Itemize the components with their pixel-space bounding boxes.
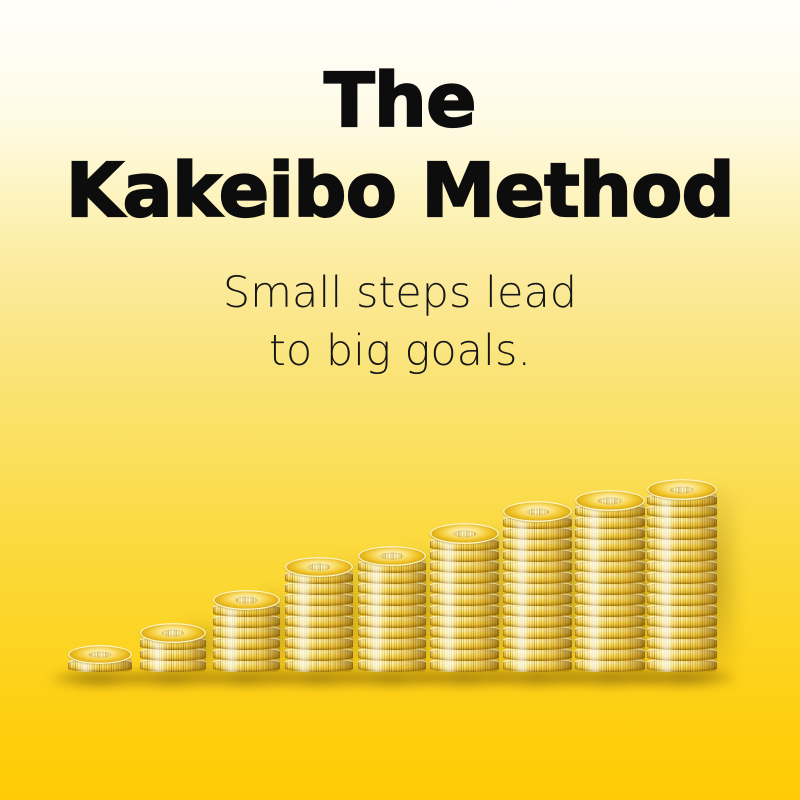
coin-stacks-illustration bbox=[0, 0, 800, 800]
coin-top-face bbox=[285, 557, 353, 577]
poster-canvas: The Kakeibo Method Small steps lead to b… bbox=[0, 0, 800, 800]
coin-top-face bbox=[647, 479, 717, 500]
coin-stack bbox=[358, 542, 426, 672]
coin-top-face bbox=[68, 645, 132, 664]
coin-top-face bbox=[140, 623, 206, 643]
coin-stack bbox=[68, 642, 132, 672]
coin-top-face bbox=[575, 490, 645, 511]
coin-stack bbox=[575, 486, 645, 672]
coin-top-face bbox=[213, 590, 280, 610]
coin-stack bbox=[647, 475, 717, 672]
coin-stack bbox=[213, 586, 280, 672]
coin-stack bbox=[285, 553, 353, 672]
coin-top-face bbox=[503, 501, 572, 522]
coin-stack bbox=[503, 497, 572, 672]
coin-stack bbox=[430, 519, 499, 672]
coin-top-face bbox=[358, 546, 426, 566]
coin-stack bbox=[140, 619, 206, 672]
coin-top-face bbox=[430, 523, 499, 544]
